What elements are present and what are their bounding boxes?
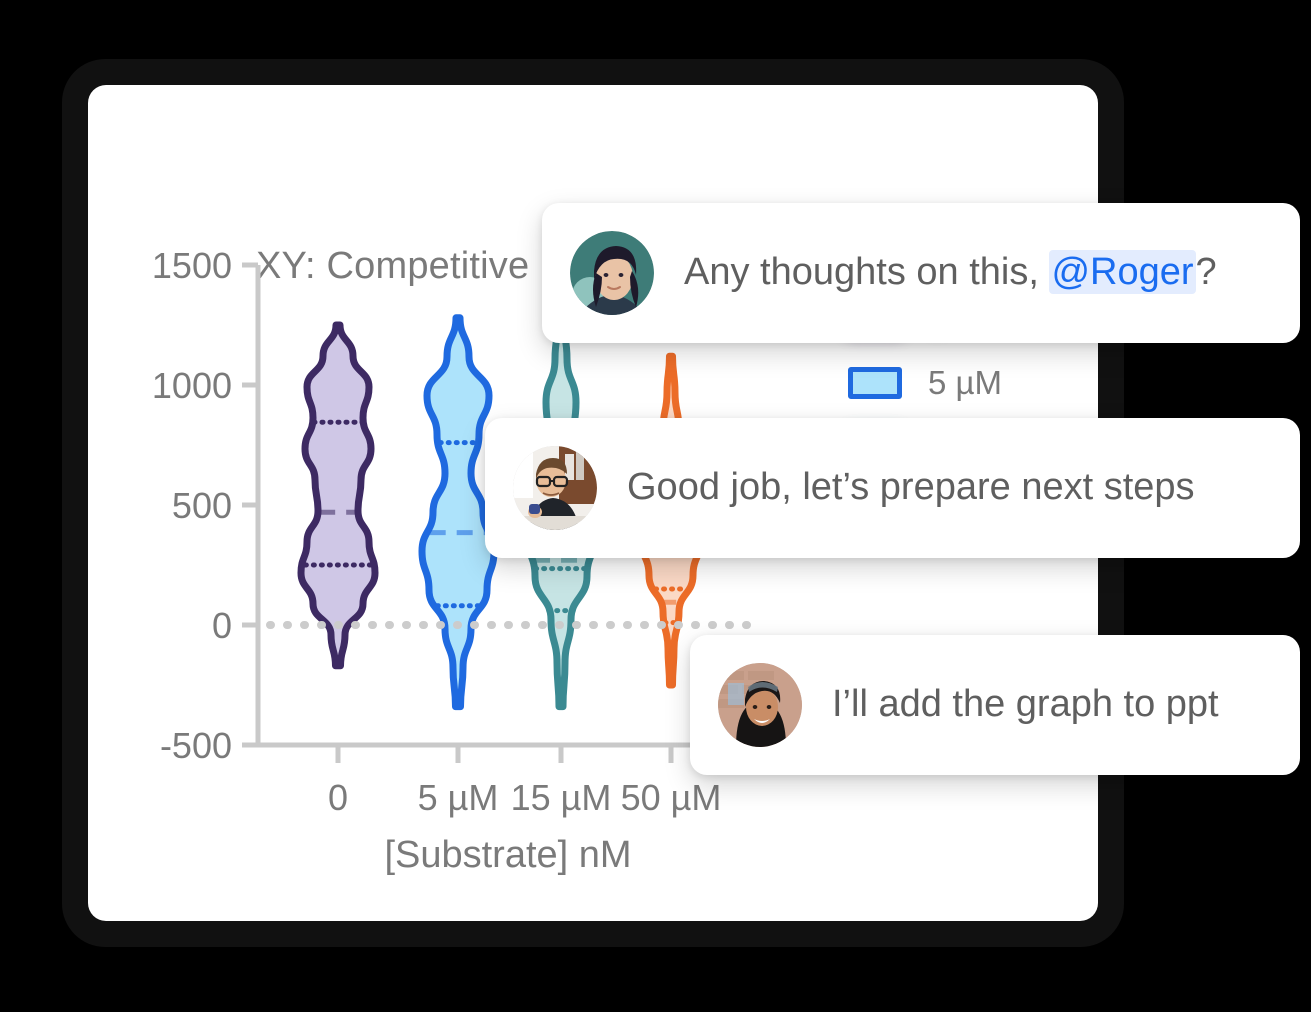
legend-swatch-icon: [848, 367, 902, 399]
avatar-karen: [570, 231, 654, 315]
avatar-roger: [513, 446, 597, 530]
y-axis-tick-label: 0: [212, 605, 232, 646]
violin-0[interactable]: [301, 325, 375, 666]
legend-label: 5 µM: [928, 364, 1002, 402]
x-axis-tick-label: 50 µM: [621, 777, 722, 818]
chat-bubble-2[interactable]: Good job, let’s prepare next steps: [485, 418, 1300, 558]
legend-item-1[interactable]: 5 µM: [848, 352, 1078, 414]
chat-bubble-3[interactable]: I’ll add the graph to ppt: [690, 635, 1300, 775]
chat-bubble-1[interactable]: Any thoughts on this, @Roger?: [542, 203, 1300, 343]
message-text-after: ?: [1196, 251, 1217, 293]
chat-message-text: I’ll add the graph to ppt: [832, 684, 1219, 726]
y-axis-tick-label: 1500: [152, 245, 232, 286]
x-axis-title: [Substrate] nM: [384, 834, 631, 876]
message-text-before: Any thoughts on this,: [684, 251, 1049, 293]
y-axis-tick-label: 1000: [152, 365, 232, 406]
mention-chip[interactable]: @Roger: [1049, 250, 1195, 294]
x-axis-tick-label: 5 µM: [418, 777, 499, 818]
avatar-maria: [718, 663, 802, 747]
y-axis-tick-label: -500: [160, 725, 232, 766]
x-axis-tick-label: 15 µM: [511, 777, 612, 818]
y-axis-tick-label: 500: [172, 485, 232, 526]
chat-message-text: Good job, let’s prepare next steps: [627, 467, 1195, 509]
x-axis-tick-label: 0: [328, 777, 348, 818]
chat-message-text: Any thoughts on this, @Roger?: [684, 252, 1217, 294]
violin-1[interactable]: [422, 318, 494, 707]
